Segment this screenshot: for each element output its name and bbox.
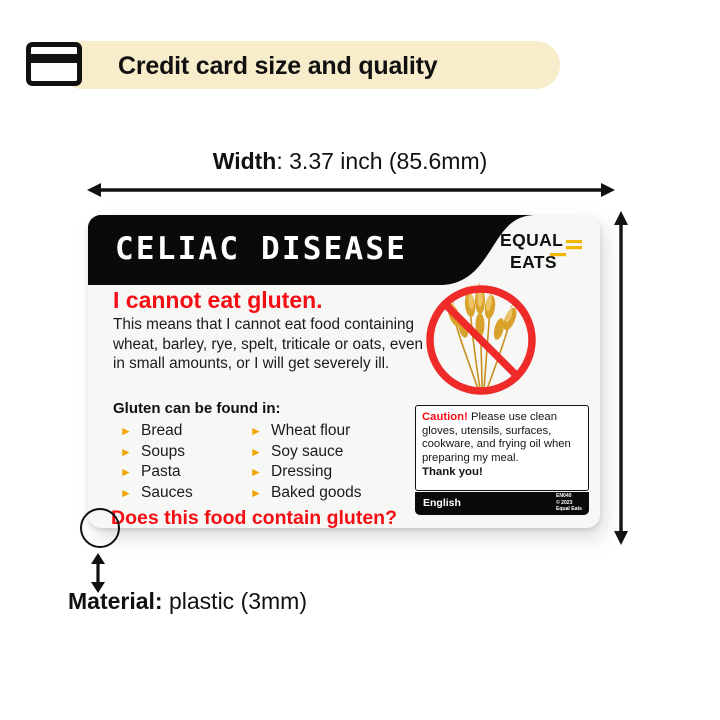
svg-text:EATS: EATS [510,252,557,272]
gluten-list-column-1: ►Bread ►Soups ►Pasta ►Sauces [120,421,250,503]
height-arrow [610,210,632,546]
material-label-bold: Material: [68,588,163,614]
fineprint-brand: Equal Eats [556,506,582,513]
list-item: ►Dressing [250,462,430,483]
list-item-label: Soups [141,443,185,461]
fineprint-copyright: © 2023 [556,500,582,507]
no-gluten-wheat-icon [410,281,556,399]
caution-word: Caution! [422,411,468,423]
svg-text:EQUAL: EQUAL [500,230,563,250]
triangle-bullet-icon: ► [120,487,133,499]
triangle-bullet-icon: ► [250,466,263,478]
list-item-label: Wheat flour [271,422,350,440]
thank-you-text: Thank you! [422,466,582,478]
list-item-label: Pasta [141,463,181,481]
triangle-bullet-icon: ► [250,446,263,458]
card-footer-bar: English EN040 © 2023 Equal Eats [415,492,589,515]
list-item: ►Soups [120,442,250,463]
fineprint-code: EN040 [556,493,582,500]
triangle-bullet-icon: ► [120,446,133,458]
language-label: English [423,497,461,509]
card-fineprint: EN040 © 2023 Equal Eats [556,493,582,513]
celiac-disease-card: CELIAC DISEASE EQUAL EATS I cannot eat g… [88,215,600,528]
triangle-bullet-icon: ► [250,487,263,499]
list-item: ►Sauces [120,483,250,504]
list-item-label: Soy sauce [271,443,343,461]
thickness-magnifier-circle [80,508,120,548]
list-item: ►Soy sauce [250,442,430,463]
thickness-arrow [86,553,110,593]
card-headline: I cannot eat gluten. [113,287,323,314]
list-item-label: Sauces [141,484,193,502]
width-arrow [86,180,616,200]
triangle-bullet-icon: ► [120,425,133,437]
list-item: ►Baked goods [250,483,430,504]
triangle-bullet-icon: ► [120,466,133,478]
card-body-text: This means that I cannot eat food contai… [113,315,438,374]
gluten-sources-list: ►Bread ►Soups ►Pasta ►Sauces ►Wheat flou… [120,421,450,503]
list-item-label: Baked goods [271,484,362,502]
material-label-value: plastic (3mm) [163,588,307,614]
gluten-found-in-heading: Gluten can be found in: [113,400,281,417]
list-item-label: Bread [141,422,182,440]
material-label: Material: plastic (3mm) [68,588,307,615]
width-label-bold: Width [213,148,277,174]
width-label-value: : 3.37 inch (85.6mm) [276,148,487,174]
triangle-bullet-icon: ► [250,425,263,437]
gluten-list-column-2: ►Wheat flour ►Soy sauce ►Dressing ►Baked… [250,421,430,503]
list-item-label: Dressing [271,463,332,481]
card-question: Does this food contain gluten? [111,507,397,528]
caution-text: Caution! Please use clean gloves, utensi… [422,411,582,465]
list-item: ►Pasta [120,462,250,483]
width-dimension-label: Width: 3.37 inch (85.6mm) [90,148,610,175]
banner-title: Credit card size and quality [118,50,548,82]
list-item: ►Wheat flour [250,421,430,442]
credit-card-icon [26,42,82,86]
card-title: CELIAC DISEASE [115,231,407,267]
equal-eats-logo: EQUAL EATS [500,227,586,273]
caution-box: Caution! Please use clean gloves, utensi… [415,405,589,491]
page-root: Credit card size and quality Width: 3.37… [0,0,720,720]
list-item: ►Bread [120,421,250,442]
